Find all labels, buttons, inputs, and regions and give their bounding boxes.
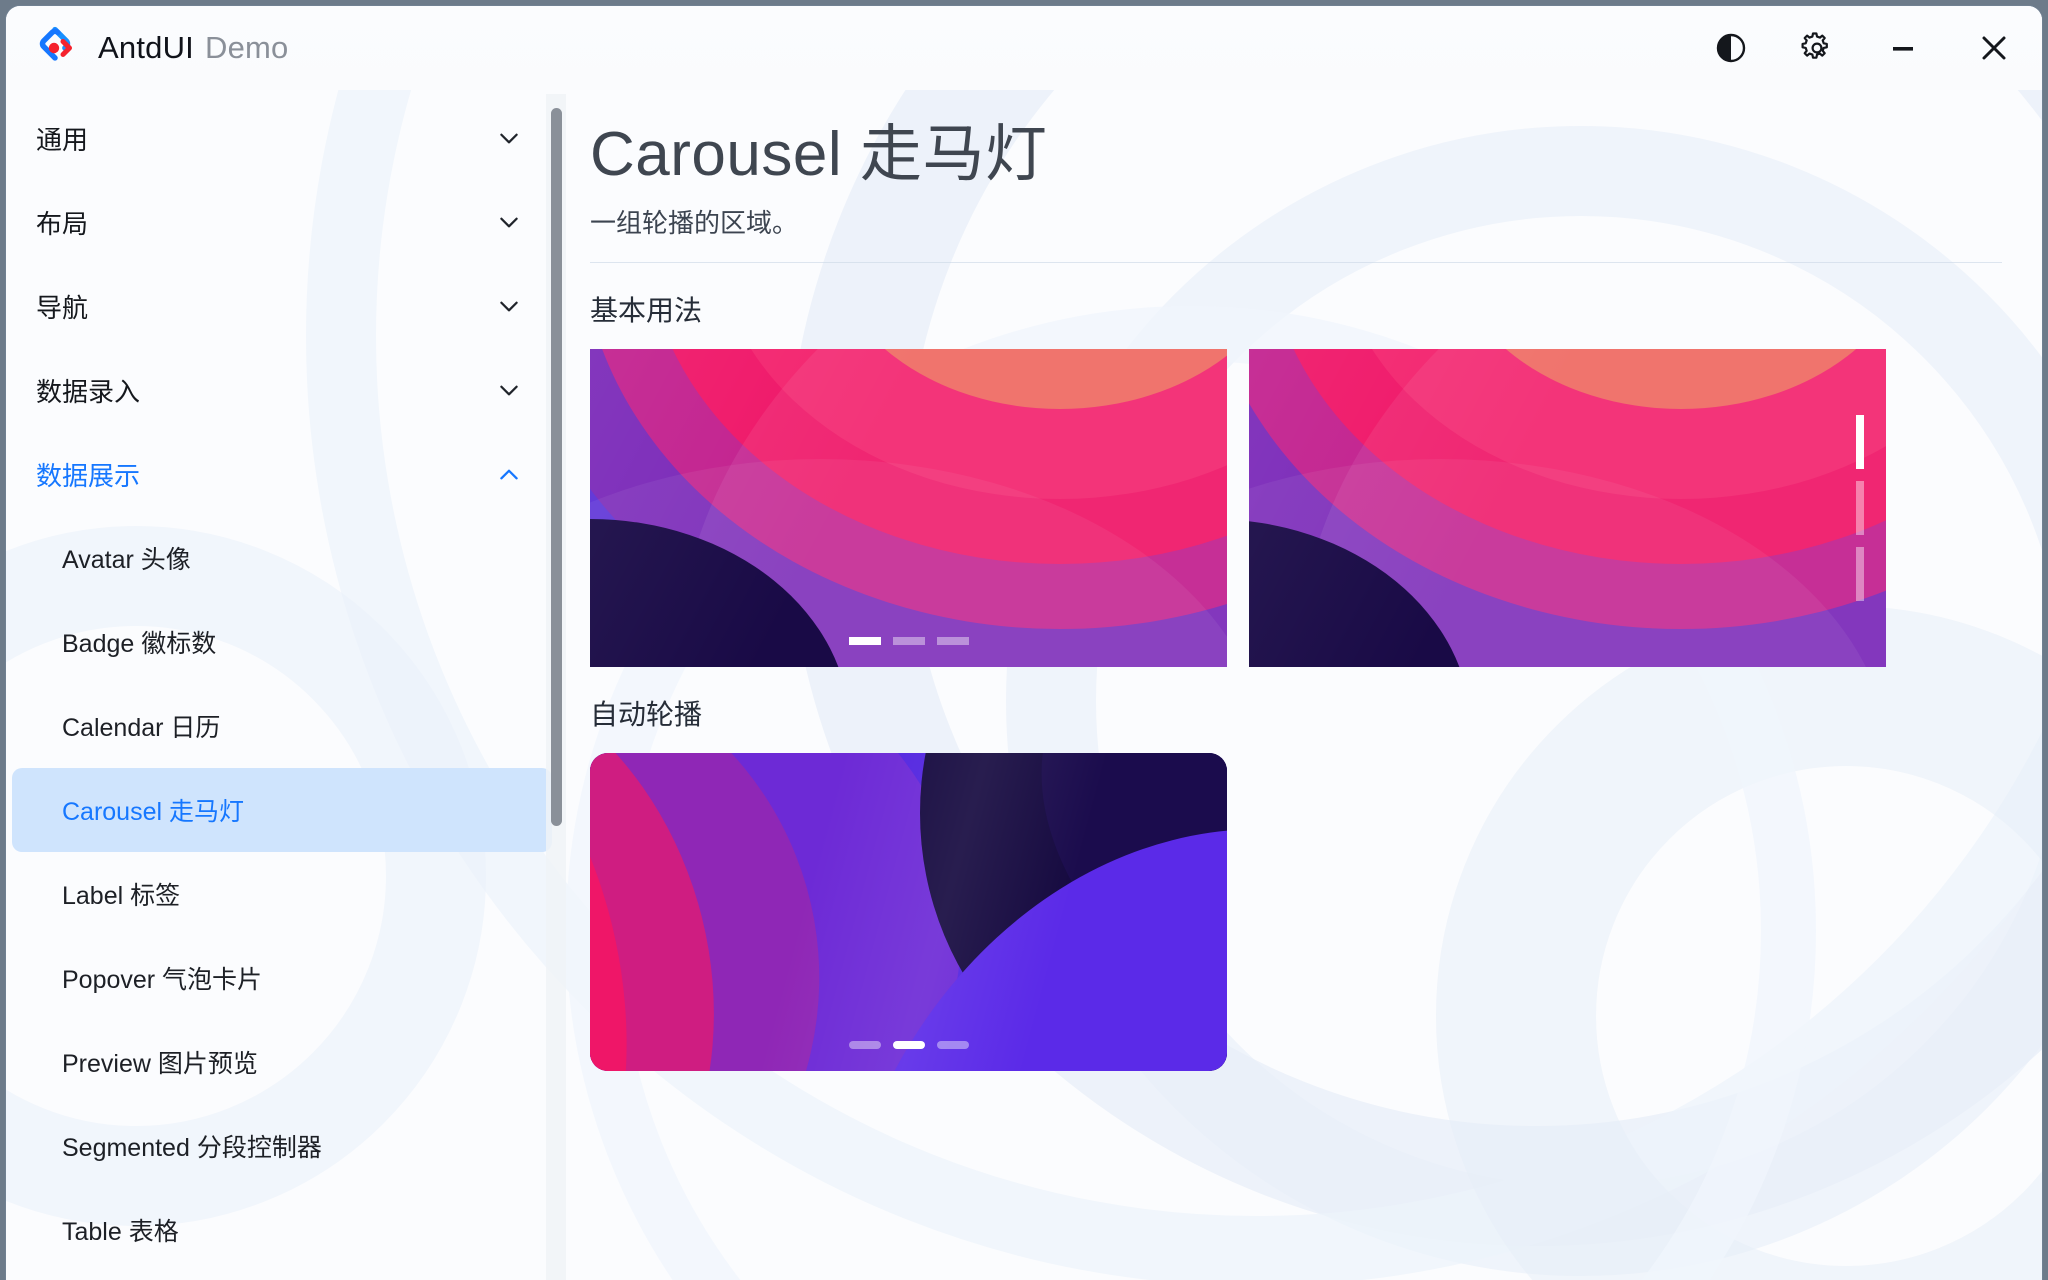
chevron-down-icon [496, 293, 522, 319]
theme-toggle-button[interactable] [1688, 6, 1774, 90]
sidebar[interactable]: 通用 布局 导航 数据录入 [6, 90, 566, 1280]
sidebar-nav-list: 通用 布局 导航 数据录入 [6, 90, 566, 1272]
carousel-dot[interactable] [937, 637, 969, 645]
close-button[interactable] [1946, 6, 2042, 90]
carousel-indicators-horizontal[interactable] [849, 1041, 969, 1049]
section-heading-autoplay: 自动轮播 [566, 667, 2042, 733]
sidebar-group-label: 数据录入 [36, 372, 140, 409]
close-icon [1975, 29, 2013, 67]
carousel-dot[interactable] [849, 1041, 881, 1049]
carousel-dot[interactable] [937, 1041, 969, 1049]
app-brand: AntdUIDemo [6, 25, 288, 71]
sidebar-item-preview[interactable]: Preview 图片预览 [12, 1020, 552, 1104]
carousel-dot[interactable] [893, 637, 925, 645]
sidebar-group-data-entry[interactable]: 数据录入 [6, 348, 566, 432]
antdui-logo-icon [32, 25, 78, 71]
sidebar-group-navigation[interactable]: 导航 [6, 264, 566, 348]
sidebar-group-label: 通用 [36, 120, 88, 157]
carousel-dot[interactable] [849, 637, 881, 645]
sidebar-item-label: Segmented 分段控制器 [62, 1128, 322, 1164]
window-controls [1688, 6, 2042, 90]
carousel-basic-vertical[interactable] [1249, 349, 1886, 667]
chevron-down-icon [496, 209, 522, 235]
minimize-icon [1886, 31, 1920, 65]
sidebar-item-segmented[interactable]: Segmented 分段控制器 [12, 1104, 552, 1188]
carousel-row-autoplay [566, 733, 2042, 1071]
sidebar-item-label: Calendar 日历 [62, 708, 220, 744]
sidebar-group-layout[interactable]: 布局 [6, 180, 566, 264]
header-divider [590, 262, 2002, 263]
sidebar-item-popover[interactable]: Popover 气泡卡片 [12, 936, 552, 1020]
carousel-slide-image [590, 349, 1227, 667]
main-content: Carousel 走马灯 一组轮播的区域。 基本用法 [566, 90, 2042, 1280]
sidebar-scrollbar-thumb[interactable] [551, 108, 562, 826]
gear-icon [1799, 30, 1835, 66]
sidebar-item-label: Table 表格 [62, 1212, 179, 1248]
page-description: 一组轮播的区域。 [590, 203, 2002, 240]
carousel-dot[interactable] [1856, 547, 1864, 601]
chevron-down-icon [496, 377, 522, 403]
sidebar-item-label: Carousel 走马灯 [62, 792, 244, 828]
sidebar-item-label: Label 标签 [62, 876, 180, 912]
carousel-dot[interactable] [1856, 481, 1864, 535]
app-title: AntdUIDemo [98, 30, 288, 66]
sidebar-group-label: 布局 [36, 204, 88, 241]
page-header: Carousel 走马灯 一组轮播的区域。 [566, 90, 2042, 263]
carousel-dot[interactable] [1856, 415, 1864, 469]
sidebar-item-table[interactable]: Table 表格 [12, 1188, 552, 1272]
sidebar-item-calendar[interactable]: Calendar 日历 [12, 684, 552, 768]
sidebar-item-badge[interactable]: Badge 徽标数 [12, 600, 552, 684]
carousel-slide-image [1249, 349, 1886, 667]
chevron-down-icon [496, 125, 522, 151]
sidebar-group-label: 导航 [36, 288, 88, 325]
section-heading-basic: 基本用法 [566, 263, 2042, 329]
carousel-row-basic [566, 329, 2042, 667]
carousel-indicators-vertical[interactable] [1856, 415, 1864, 601]
page-title: Carousel 走马灯 [590, 118, 2002, 191]
app-name: AntdUI [98, 30, 194, 65]
contrast-icon [1714, 31, 1748, 65]
sidebar-group-data-display[interactable]: 数据展示 [6, 432, 566, 516]
sidebar-item-label: Badge 徽标数 [62, 624, 216, 660]
sidebar-item-label: Avatar 头像 [62, 540, 191, 576]
sidebar-item-avatar[interactable]: Avatar 头像 [12, 516, 552, 600]
app-window: AntdUIDemo [6, 6, 2042, 1280]
app-suffix: Demo [205, 30, 289, 65]
carousel-basic-horizontal[interactable] [590, 349, 1227, 667]
carousel-indicators-horizontal[interactable] [849, 637, 969, 645]
carousel-autoplay[interactable] [590, 753, 1227, 1071]
title-bar: AntdUIDemo [6, 6, 2042, 90]
chevron-up-icon [496, 461, 522, 487]
sidebar-item-label: Preview 图片预览 [62, 1044, 258, 1080]
sidebar-group-general[interactable]: 通用 [6, 96, 566, 180]
sidebar-item-label[interactable]: Label 标签 [12, 852, 552, 936]
carousel-slide-image [590, 753, 1227, 1071]
sidebar-item-carousel[interactable]: Carousel 走马灯 [12, 768, 552, 852]
carousel-dot[interactable] [893, 1041, 925, 1049]
settings-button[interactable] [1774, 6, 1860, 90]
minimize-button[interactable] [1860, 6, 1946, 90]
sidebar-group-label: 数据展示 [36, 456, 140, 493]
sidebar-item-label: Popover 气泡卡片 [62, 960, 262, 996]
